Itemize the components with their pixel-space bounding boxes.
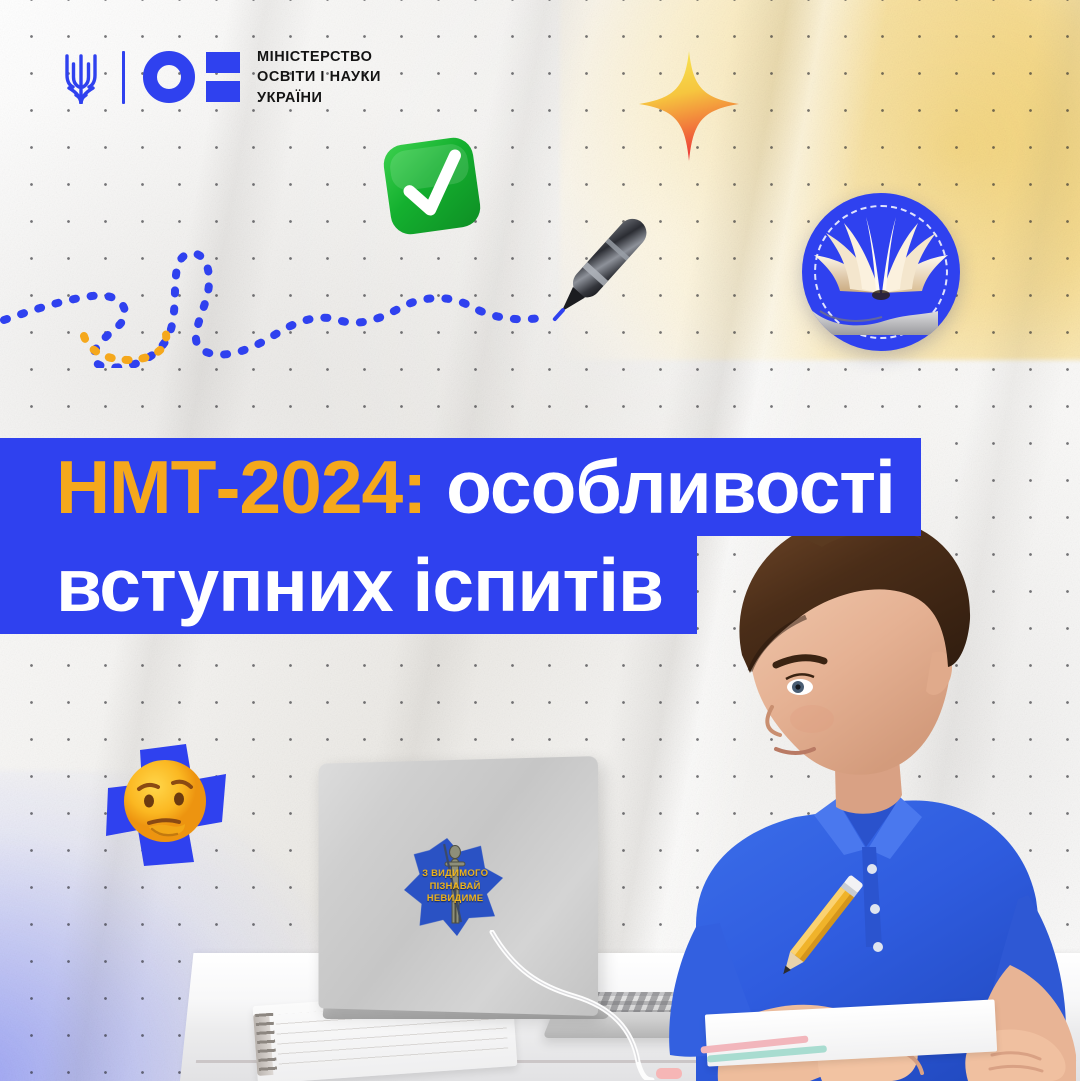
ministry-logo-text: МІНІСТЕРСТВО ОСВІТИ І НАУКИ УКРАЇНИ xyxy=(257,47,381,108)
open-book-badge xyxy=(802,193,960,351)
dashed-squiggle-line-icon xyxy=(0,248,592,368)
four-point-sparkle-icon xyxy=(634,46,744,166)
mon-o-mark-icon xyxy=(143,51,195,103)
title-line-1: НМТ-2024: особливості xyxy=(0,438,921,536)
poster-title: НМТ-2024: особливості вступних іспитів xyxy=(0,438,921,634)
logo-line-3: УКРАЇНИ xyxy=(257,88,381,108)
logo-line-1: МІНІСТЕРСТВО xyxy=(257,47,381,67)
open-book-in-hand-icon xyxy=(806,215,956,335)
title-highlight: НМТ-2024: xyxy=(56,445,426,529)
title-line-1-rest xyxy=(426,445,446,529)
ministry-logo: МІНІСТЕРСТВО ОСВІТИ І НАУКИ УКРАЇНИ xyxy=(60,47,381,108)
thinking-emoji-sticker xyxy=(100,742,228,868)
poster-root: МІНІСТЕРСТВО ОСВІТИ І НАУКИ УКРАЇНИ xyxy=(0,0,1080,1081)
mon-equals-mark-icon xyxy=(206,52,240,102)
logo-line-2: ОСВІТИ І НАУКИ xyxy=(257,67,381,87)
green-check-sticker-icon xyxy=(376,130,489,243)
title-line-2: вступних іспитів xyxy=(0,536,697,634)
title-line-1-text: особливості xyxy=(446,445,895,529)
logo-divider xyxy=(122,51,125,104)
thinking-face-icon xyxy=(119,757,211,849)
ukraine-trident-icon xyxy=(60,47,102,107)
